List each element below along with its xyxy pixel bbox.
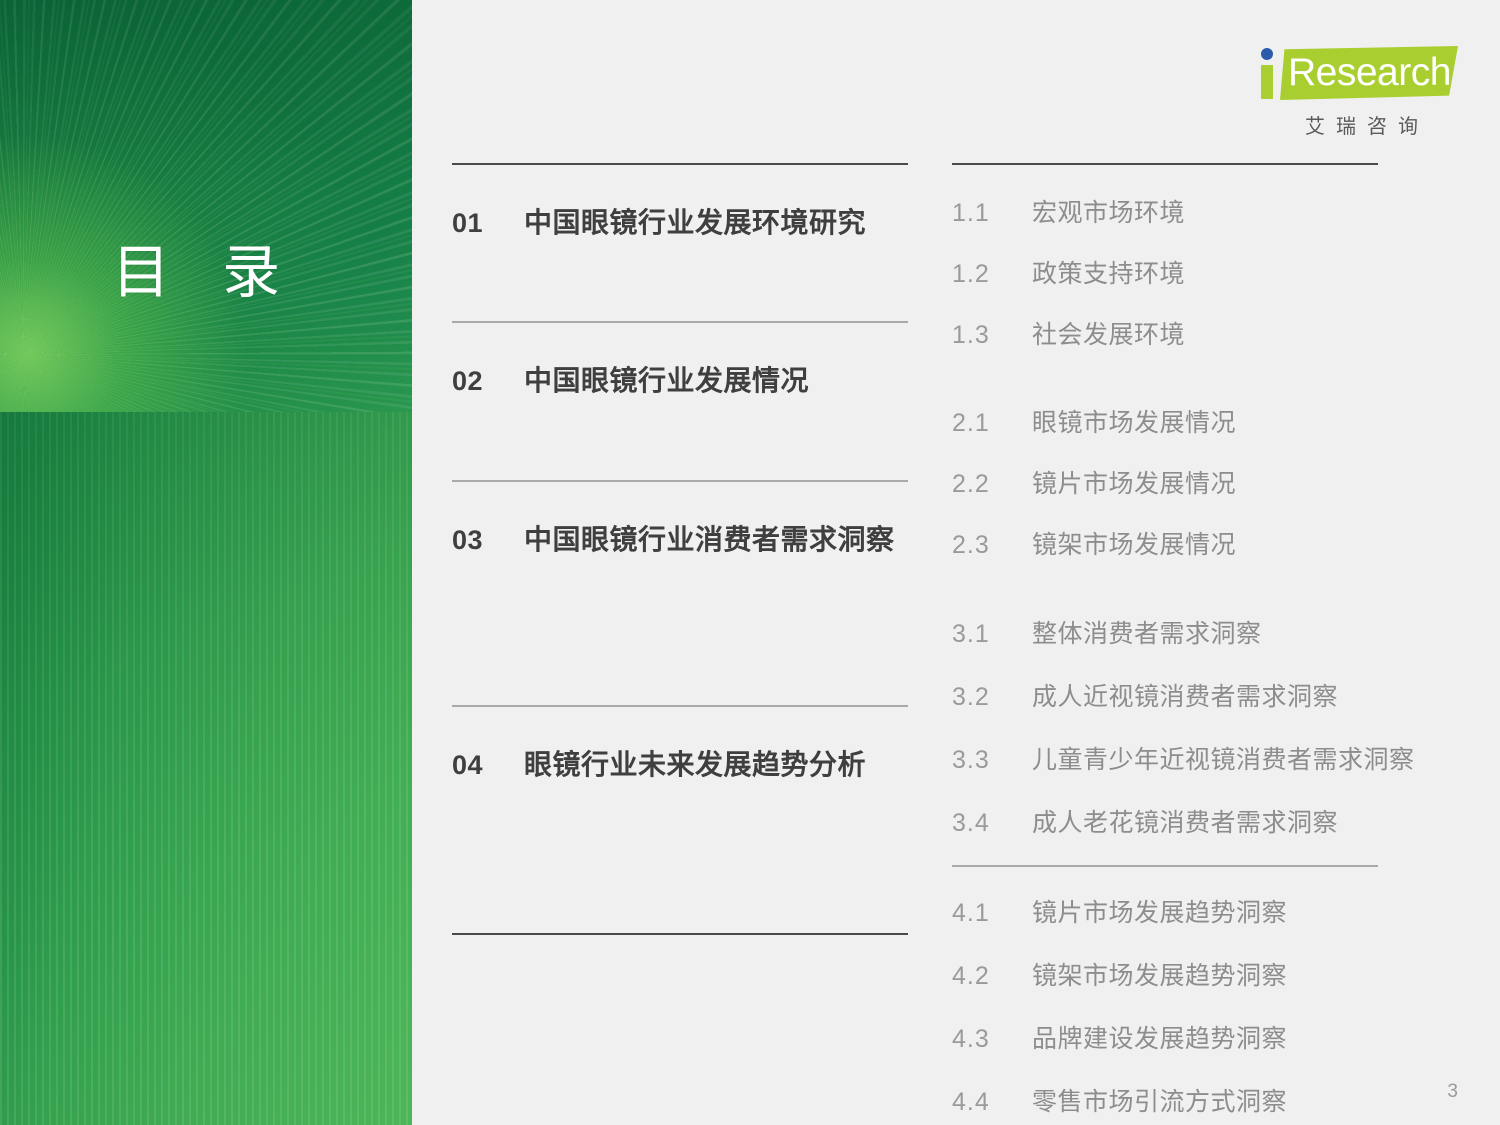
decorative-green-panel: 目 录 — [0, 0, 412, 1125]
list-item[interactable]: 4.1 镜片市场发展趋势洞察 — [952, 893, 1378, 929]
section-title: 中国眼镜行业消费者需求洞察 — [524, 518, 895, 558]
panel-top-overlay — [0, 0, 412, 412]
list-item[interactable]: 1.1 宏观市场环境 — [952, 193, 1378, 229]
subitem-label: 品牌建设发展趋势洞察 — [1032, 1019, 1287, 1055]
subitem-number: 2.2 — [952, 470, 1032, 499]
section-number: 01 — [452, 208, 524, 239]
list-item[interactable]: 3.4 成人老花镜消费者需求洞察 — [952, 803, 1378, 839]
divider-bottom-left — [452, 933, 908, 935]
subitem-number: 4.2 — [952, 962, 1032, 991]
section-01[interactable]: 01 中国眼镜行业发展环境研究 — [452, 165, 908, 321]
list-item[interactable]: 3.3 儿童青少年近视镜消费者需求洞察 — [952, 740, 1378, 776]
subitem-label: 镜片市场发展趋势洞察 — [1032, 893, 1287, 929]
list-item[interactable]: 1.2 政策支持环境 — [952, 254, 1378, 290]
section-02[interactable]: 02 中国眼镜行业发展情况 — [452, 323, 908, 480]
subitem-label: 成人老花镜消费者需求洞察 — [1032, 803, 1338, 839]
list-item[interactable]: 4.4 零售市场引流方式洞察 — [952, 1082, 1378, 1118]
logo-mark: Research — [1258, 44, 1458, 106]
logo-wordmark: Research — [1288, 50, 1451, 96]
section-number: 03 — [452, 525, 524, 556]
subitem-number: 3.4 — [952, 809, 1032, 838]
toc-subitems-column: 1.1 宏观市场环境 1.2 政策支持环境 1.3 社会发展环境 2.1 眼镜市… — [952, 163, 1378, 1125]
logo-chinese-name: 艾瑞咨询 — [1274, 110, 1460, 139]
subitem-label: 儿童青少年近视镜消费者需求洞察 — [1032, 740, 1415, 776]
section-title: 中国眼镜行业发展环境研究 — [524, 201, 866, 241]
subitem-label: 零售市场引流方式洞察 — [1032, 1082, 1287, 1118]
slide-root: 目 录 Research 艾瑞咨询 01 中国眼镜行业发展环境研究 02 中国眼… — [0, 0, 1500, 1125]
subitem-label: 宏观市场环境 — [1032, 193, 1185, 229]
subitem-label: 眼镜市场发展情况 — [1032, 403, 1236, 439]
subitem-label: 社会发展环境 — [1032, 315, 1185, 351]
subitem-number: 4.4 — [952, 1088, 1032, 1117]
section-number: 04 — [452, 750, 524, 781]
subitem-label: 镜片市场发展情况 — [1032, 464, 1236, 500]
subitem-label: 镜架市场发展情况 — [1032, 525, 1236, 561]
list-item[interactable]: 3.1 整体消费者需求洞察 — [952, 614, 1378, 650]
section-03[interactable]: 03 中国眼镜行业消费者需求洞察 — [452, 482, 908, 705]
subitem-number: 1.3 — [952, 321, 1032, 350]
subitem-number: 3.3 — [952, 746, 1032, 775]
list-item[interactable]: 3.2 成人近视镜消费者需求洞察 — [952, 677, 1378, 713]
section-04[interactable]: 04 眼镜行业未来发展趋势分析 — [452, 707, 908, 933]
toc-sections-column: 01 中国眼镜行业发展环境研究 02 中国眼镜行业发展情况 03 中国眼镜行业消… — [452, 163, 908, 935]
sunburst-pattern — [0, 0, 412, 412]
subitem-number: 2.1 — [952, 409, 1032, 438]
section-title: 眼镜行业未来发展趋势分析 — [524, 743, 866, 783]
page-number: 3 — [1447, 1081, 1458, 1103]
list-item[interactable]: 4.2 镜架市场发展趋势洞察 — [952, 956, 1378, 992]
subitem-group-2: 2.1 眼镜市场发展情况 2.2 镜片市场发展情况 2.3 镜架市场发展情况 — [952, 376, 1378, 587]
section-title: 中国眼镜行业发展情况 — [524, 359, 809, 399]
panel-bottom-overlay — [0, 412, 412, 1125]
subitem-group-4: 4.1 镜片市场发展趋势洞察 4.2 镜架市场发展趋势洞察 4.3 品牌建设发展… — [952, 867, 1378, 1125]
subitem-number: 2.3 — [952, 531, 1032, 560]
subitem-number: 3.1 — [952, 620, 1032, 649]
list-item[interactable]: 2.3 镜架市场发展情况 — [952, 525, 1378, 561]
section-number: 02 — [452, 366, 524, 397]
subitem-number: 4.3 — [952, 1025, 1032, 1054]
page-title: 目 录 — [112, 244, 298, 302]
subitem-group-1: 1.1 宏观市场环境 1.2 政策支持环境 1.3 社会发展环境 — [952, 165, 1378, 376]
vertical-stripes-pattern — [0, 412, 412, 1125]
subitem-label: 成人近视镜消费者需求洞察 — [1032, 677, 1338, 713]
subitem-label: 整体消费者需求洞察 — [1032, 614, 1262, 650]
list-item[interactable]: 1.3 社会发展环境 — [952, 315, 1378, 351]
subitem-label: 镜架市场发展趋势洞察 — [1032, 956, 1287, 992]
subitem-number: 4.1 — [952, 899, 1032, 928]
list-item[interactable]: 2.1 眼镜市场发展情况 — [952, 403, 1378, 439]
subitem-number: 3.2 — [952, 683, 1032, 712]
subitem-group-3: 3.1 整体消费者需求洞察 3.2 成人近视镜消费者需求洞察 3.3 儿童青少年… — [952, 587, 1378, 865]
subitem-number: 1.2 — [952, 260, 1032, 289]
list-item[interactable]: 4.3 品牌建设发展趋势洞察 — [952, 1019, 1378, 1055]
list-item[interactable]: 2.2 镜片市场发展情况 — [952, 464, 1378, 500]
subitem-number: 1.1 — [952, 199, 1032, 228]
iresearch-logo: Research 艾瑞咨询 — [1258, 44, 1458, 144]
logo-i-dot-icon — [1261, 48, 1273, 60]
logo-i-stem-icon — [1261, 65, 1273, 99]
subitem-label: 政策支持环境 — [1032, 254, 1185, 290]
